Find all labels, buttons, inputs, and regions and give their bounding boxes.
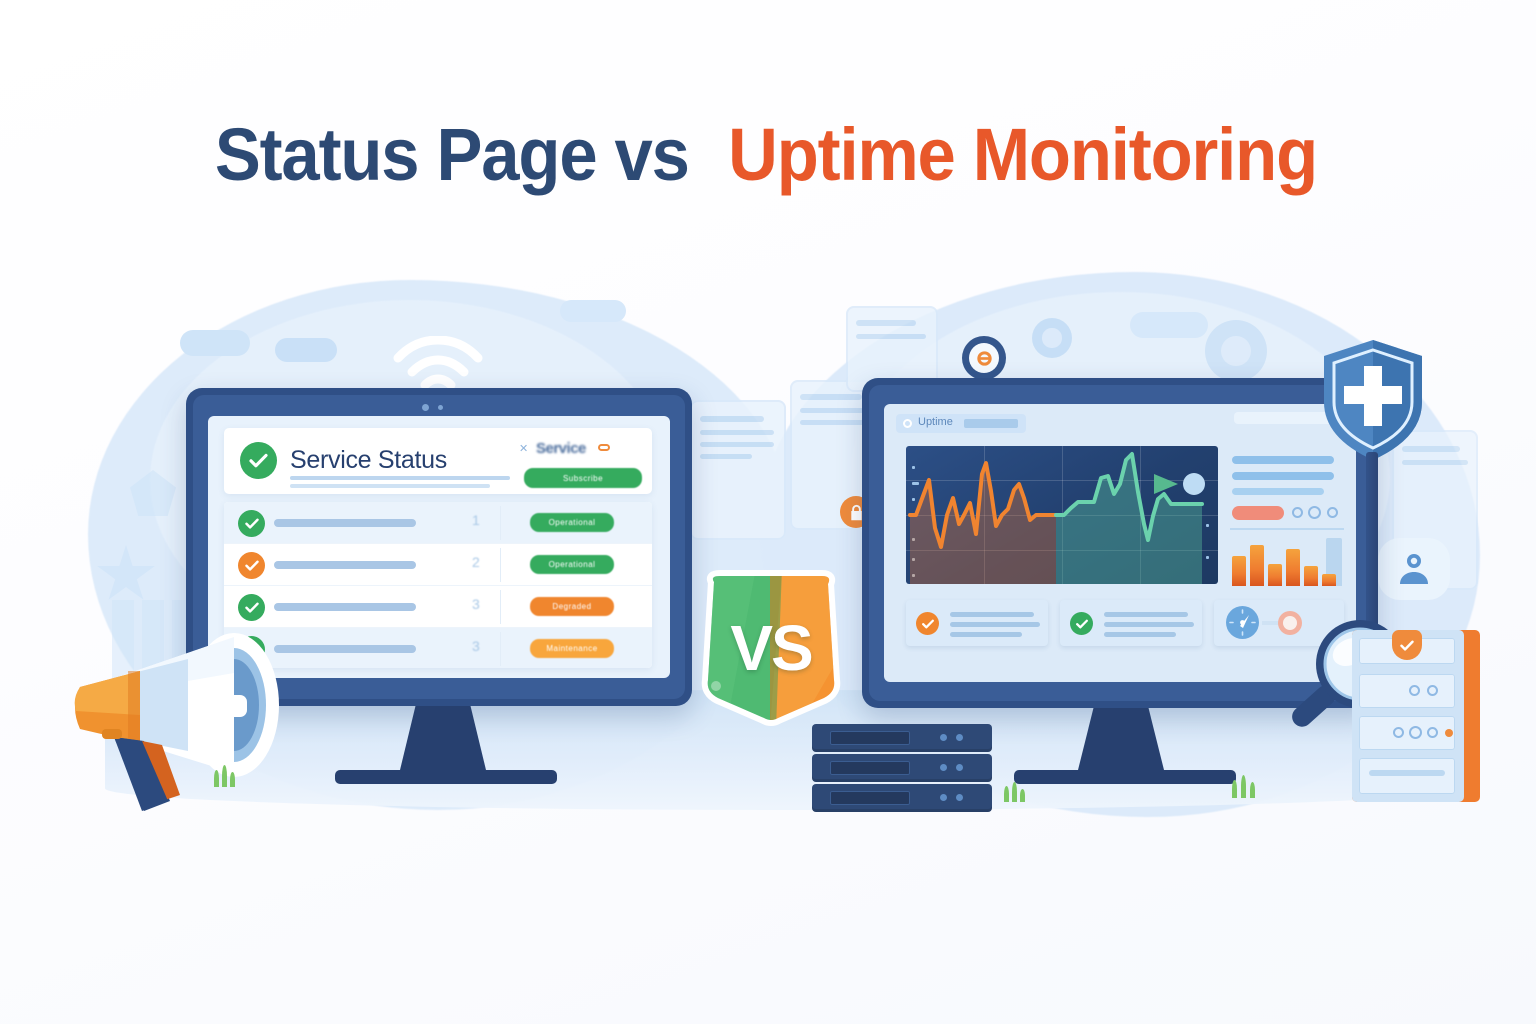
row-number: 2 bbox=[472, 554, 480, 570]
service-status-heading: Service Status bbox=[290, 446, 447, 475]
check-circle-icon bbox=[238, 510, 265, 537]
brand-x-mark: ✕ bbox=[519, 442, 528, 455]
page-title-part-navy: Status Page vs bbox=[214, 118, 688, 192]
table-row[interactable]: 1 Operational bbox=[224, 502, 652, 544]
placeholder-line bbox=[290, 476, 510, 480]
row-label-placeholder bbox=[274, 603, 416, 611]
rack-slot bbox=[1359, 758, 1455, 794]
side-ring-icon bbox=[1327, 507, 1338, 518]
healthy-card[interactable] bbox=[1060, 600, 1202, 646]
side-info-line bbox=[1232, 488, 1324, 495]
monitor-camera-left bbox=[422, 404, 429, 411]
page-title: Status Page vs Uptime Monitoring bbox=[0, 118, 1536, 192]
tab-placeholder bbox=[964, 419, 1018, 428]
illustration-canvas: Status Page vs Uptime Monitoring bbox=[0, 0, 1536, 1024]
placeholder-line bbox=[290, 484, 490, 488]
cloud-decor-4 bbox=[560, 300, 626, 322]
subscribe-button[interactable]: Subscribe bbox=[524, 468, 642, 488]
versus-label: VS bbox=[686, 568, 856, 728]
check-circle-icon bbox=[238, 552, 265, 579]
server-rack-panel bbox=[1352, 630, 1480, 802]
service-status-header-card: Service Status ✕ Service Subscribe bbox=[224, 428, 652, 494]
rack-slot bbox=[1359, 716, 1455, 750]
row-number: 3 bbox=[472, 596, 480, 612]
page-title-part-orange: Uptime Monitoring bbox=[728, 118, 1317, 192]
monitor-stand-base-right bbox=[1014, 770, 1236, 784]
megaphone-icon bbox=[58, 615, 328, 825]
status-badge: Operational bbox=[530, 555, 614, 574]
table-row[interactable]: 2 Operational bbox=[224, 544, 652, 586]
side-ring-icon bbox=[1292, 507, 1303, 518]
server-stack bbox=[812, 724, 992, 812]
side-status-pill bbox=[1232, 506, 1284, 520]
row-label-placeholder bbox=[274, 519, 416, 527]
versus-shield-badge: VS bbox=[686, 568, 856, 728]
dashboard-tab-label: Uptime bbox=[918, 416, 953, 428]
status-badge: Degraded bbox=[530, 597, 614, 616]
monitor-stand-base-left bbox=[335, 770, 557, 784]
side-info-line bbox=[1232, 472, 1334, 480]
incident-card[interactable] bbox=[906, 600, 1048, 646]
brand-mark-icon bbox=[598, 444, 610, 451]
user-gear-badge-icon bbox=[1378, 538, 1450, 600]
rack-status-badge bbox=[1392, 630, 1422, 660]
gear-decor-1 bbox=[1032, 318, 1072, 358]
incident-bar-chart bbox=[1228, 534, 1346, 586]
tab-status-dot bbox=[903, 419, 912, 428]
gear-decor-2 bbox=[1205, 320, 1267, 382]
status-badge: Maintenance bbox=[530, 639, 614, 658]
side-divider bbox=[1230, 528, 1344, 530]
document-ghost-1 bbox=[690, 400, 786, 540]
row-number: 3 bbox=[472, 638, 480, 654]
row-number: 1 bbox=[472, 512, 480, 528]
check-circle-icon bbox=[916, 612, 939, 635]
check-circle-icon bbox=[240, 442, 277, 479]
response-time-chart bbox=[906, 446, 1218, 584]
shield-cross-icon bbox=[1318, 336, 1428, 464]
gauge-icon bbox=[1226, 606, 1259, 639]
cloud-decor-2 bbox=[275, 338, 337, 362]
check-circle-icon bbox=[1070, 612, 1093, 635]
row-label-placeholder bbox=[274, 561, 416, 569]
cloud-decor-1 bbox=[180, 330, 250, 356]
server-unit bbox=[812, 784, 992, 812]
cloud-decor-3 bbox=[1130, 312, 1208, 338]
side-ring-icon bbox=[1308, 506, 1321, 519]
server-unit bbox=[812, 724, 992, 752]
server-unit bbox=[812, 754, 992, 782]
monitor-camera-dot-left bbox=[438, 405, 443, 410]
rack-slot bbox=[1359, 674, 1455, 708]
brand-name-blurred: Service bbox=[536, 440, 586, 457]
chart-series-svg bbox=[906, 446, 1218, 584]
dashboard-tab[interactable]: Uptime bbox=[896, 414, 1026, 433]
gear-badge-icon bbox=[962, 336, 1006, 380]
status-badge: Operational bbox=[530, 513, 614, 532]
